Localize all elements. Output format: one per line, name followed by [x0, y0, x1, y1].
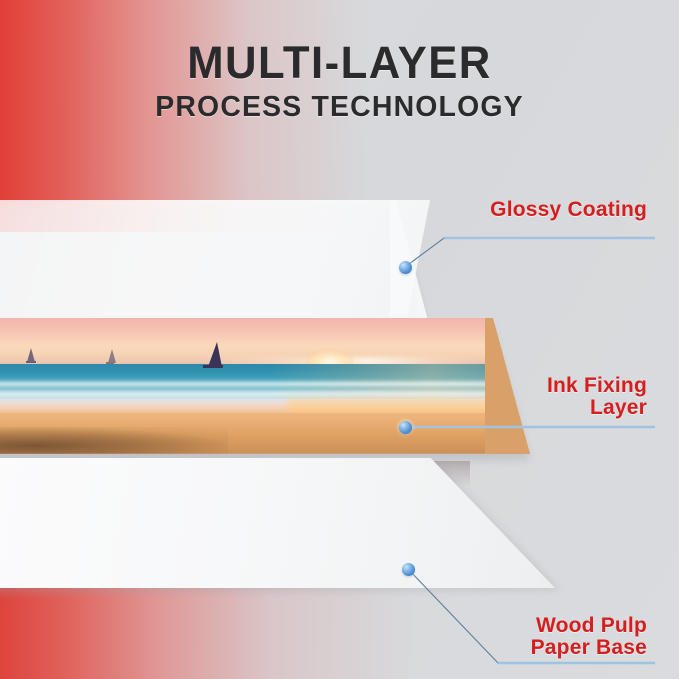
- callout-dot-wood-pulp-base[interactable]: [402, 563, 415, 576]
- sailboat-hull: [203, 365, 223, 368]
- callout-label-wood-pulp-base: Wood Pulp Paper Base: [531, 615, 647, 660]
- layer-ink-fixing-tip: [485, 318, 530, 458]
- page-subtitle: PROCESS TECHNOLOGY: [7, 92, 672, 122]
- sailboat-icon: [26, 347, 36, 363]
- layer-glossy-coating-face: [0, 200, 430, 335]
- sailboat-hull: [26, 361, 36, 363]
- layer-ink-fixing-photo: [0, 318, 530, 458]
- layer-wood-pulp-base[interactable]: [0, 458, 555, 588]
- layer-ink-fixing[interactable]: [0, 318, 530, 458]
- callout-dot-glossy-coating[interactable]: [399, 261, 412, 274]
- layer-glossy-coating[interactable]: [0, 200, 430, 335]
- sailboat-sail: [108, 349, 116, 363]
- sailboat-icon: [203, 342, 223, 368]
- scene-surf-line: [0, 380, 530, 388]
- page-title: MULTI-LAYER: [10, 40, 669, 86]
- sailboat-sail: [208, 342, 222, 367]
- sailboat-hull: [106, 362, 114, 364]
- sailboat-sail: [27, 348, 35, 362]
- callout-dot-ink-fixing[interactable]: [399, 421, 412, 434]
- sailboat-icon: [106, 352, 114, 364]
- multi-layer-technology-poster: MULTI-LAYER PROCESS TECHNOLOGY: [0, 0, 679, 679]
- callout-label-glossy-coating: Glossy Coating: [490, 199, 647, 221]
- beach-sunset-scene: [0, 318, 530, 458]
- poster-heading: MULTI-LAYER PROCESS TECHNOLOGY: [0, 40, 679, 122]
- callout-label-ink-fixing: Ink Fixing Layer: [547, 375, 647, 420]
- scene-sand-shadow: [0, 427, 228, 458]
